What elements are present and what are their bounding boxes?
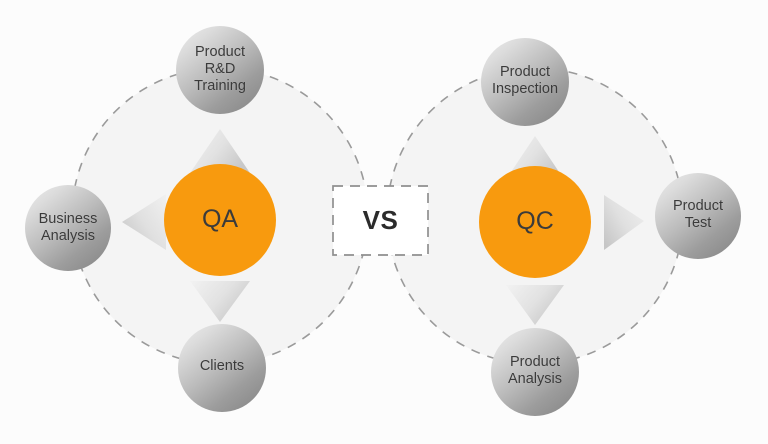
- qc-node-product-analysis[interactable]: [491, 328, 579, 416]
- vs-box-fill: [333, 186, 428, 255]
- qa-node-product-rd-training[interactable]: [176, 26, 264, 114]
- qa-qc-comparison-diagram: [0, 0, 768, 444]
- cluster-qa: [25, 26, 368, 412]
- qa-hub-circle[interactable]: [164, 164, 276, 276]
- qc-node-product-test[interactable]: [655, 173, 741, 259]
- vs-comparator-box[interactable]: [333, 186, 428, 255]
- qc-hub-circle[interactable]: [479, 166, 591, 278]
- qc-node-product-inspection[interactable]: [481, 38, 569, 126]
- cluster-qc: [387, 38, 741, 416]
- qa-node-clients[interactable]: [178, 324, 266, 412]
- qa-node-business-analysis[interactable]: [25, 185, 111, 271]
- diagram-canvas: Product R&D Training Business Analysis C…: [0, 0, 768, 444]
